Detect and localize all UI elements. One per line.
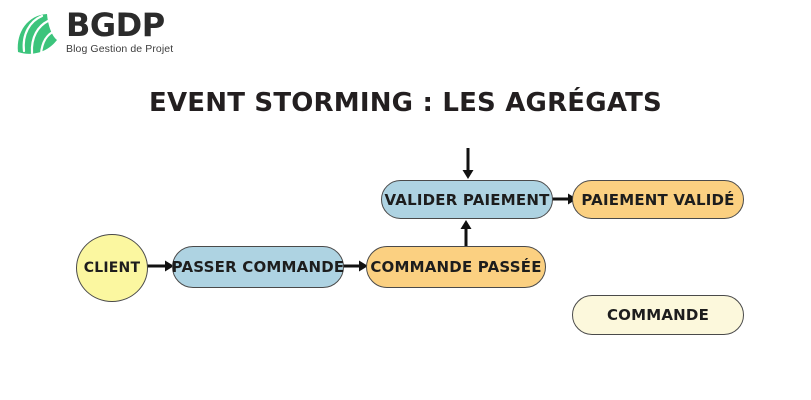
node-valider-paiement[interactable]: VALIDER PAIEMENT <box>381 180 553 219</box>
event-storming-diagram: CLIENT PASSER COMMANDE COMMANDE PASSÉE V… <box>0 0 811 400</box>
node-client-label: CLIENT <box>84 260 140 276</box>
node-commande-aggregate-label: COMMANDE <box>607 306 709 324</box>
arrow-into-valider-paiement <box>450 146 486 182</box>
node-passer-commande[interactable]: PASSER COMMANDE <box>172 246 344 288</box>
node-commande-passee-label: COMMANDE PASSÉE <box>370 258 541 276</box>
node-paiement-valide[interactable]: PAIEMENT VALIDÉ <box>572 180 744 219</box>
node-commande-aggregate[interactable]: COMMANDE <box>572 295 744 335</box>
node-valider-paiement-label: VALIDER PAIEMENT <box>384 191 549 209</box>
node-paiement-valide-label: PAIEMENT VALIDÉ <box>581 191 734 209</box>
node-client[interactable]: CLIENT <box>76 234 148 302</box>
node-commande-passee[interactable]: COMMANDE PASSÉE <box>366 246 546 288</box>
node-passer-commande-label: PASSER COMMANDE <box>172 258 345 276</box>
